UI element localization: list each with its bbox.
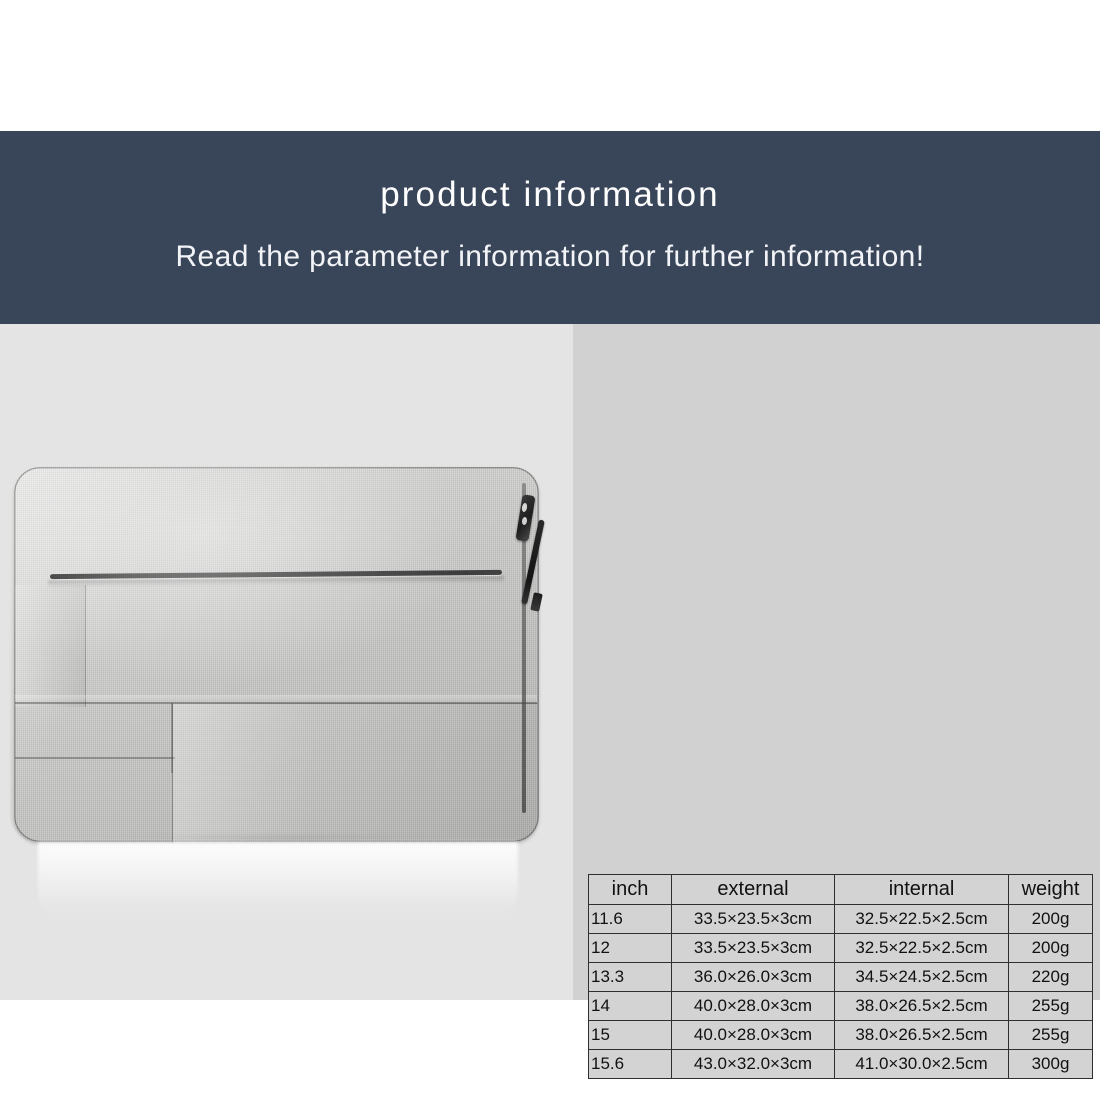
- product-photo-panel: [0, 324, 573, 1000]
- specification-table: inch external internal weight 11.6 33.5×…: [588, 874, 1093, 1079]
- cell-external: 40.0×28.0×3cm: [672, 1021, 835, 1050]
- front-pocket: [172, 703, 538, 843]
- table-header: inch external internal weight: [589, 875, 1093, 905]
- cell-inch: 13.3: [589, 963, 672, 992]
- table-body: 11.6 33.5×23.5×3cm 32.5×22.5×2.5cm 200g …: [589, 905, 1093, 1079]
- cell-weight: 255g: [1009, 1021, 1093, 1050]
- cell-inch: 15: [589, 1021, 672, 1050]
- cell-inch: 15.6: [589, 1050, 672, 1079]
- cell-internal: 38.0×26.5×2.5cm: [835, 992, 1009, 1021]
- cell-internal: 32.5×22.5×2.5cm: [835, 905, 1009, 934]
- lower-left-seam: [15, 757, 175, 759]
- cell-weight: 220g: [1009, 963, 1093, 992]
- table-row: 15.6 43.0×32.0×3cm 41.0×30.0×2.5cm 300g: [589, 1050, 1093, 1079]
- table-header-row: inch external internal weight: [589, 875, 1093, 905]
- cell-weight: 300g: [1009, 1050, 1093, 1079]
- zipper-pull-tip: [530, 592, 543, 611]
- cell-internal: 34.5×24.5×2.5cm: [835, 963, 1009, 992]
- column-header-weight: weight: [1009, 875, 1093, 905]
- cell-inch: 11.6: [589, 905, 672, 934]
- table-row: 15 40.0×28.0×3cm 38.0×26.5×2.5cm 255g: [589, 1021, 1093, 1050]
- cell-external: 43.0×32.0×3cm: [672, 1050, 835, 1079]
- table-row: 12 33.5×23.5×3cm 32.5×22.5×2.5cm 200g: [589, 934, 1093, 963]
- column-header-external: external: [672, 875, 835, 905]
- laptop-sleeve-body: [14, 467, 539, 842]
- cell-weight: 200g: [1009, 905, 1093, 934]
- product-photo: [0, 324, 573, 1000]
- cell-inch: 12: [589, 934, 672, 963]
- cell-weight: 200g: [1009, 934, 1093, 963]
- cell-internal: 32.5×22.5×2.5cm: [835, 934, 1009, 963]
- column-header-inch: inch: [589, 875, 672, 905]
- cell-external: 40.0×28.0×3cm: [672, 992, 835, 1021]
- cell-internal: 38.0×26.5×2.5cm: [835, 1021, 1009, 1050]
- cell-external: 33.5×23.5×3cm: [672, 905, 835, 934]
- cell-internal: 41.0×30.0×2.5cm: [835, 1050, 1009, 1079]
- product-information-page: product information Read the parameter i…: [0, 0, 1100, 1100]
- table-row: 11.6 33.5×23.5×3cm 32.5×22.5×2.5cm 200g: [589, 905, 1093, 934]
- table-row: 14 40.0×28.0×3cm 38.0×26.5×2.5cm 255g: [589, 992, 1093, 1021]
- cell-inch: 14: [589, 992, 672, 1021]
- bag-reflection: [38, 842, 518, 922]
- cell-external: 36.0×26.0×3cm: [672, 963, 835, 992]
- spec-table-container: inch external internal weight 11.6 33.5×…: [588, 874, 1088, 1079]
- left-upper-pocket: [15, 585, 86, 707]
- page-subtitle: Read the parameter information for furth…: [0, 239, 1100, 275]
- page-title: product information: [0, 174, 1100, 216]
- header-banner: product information Read the parameter i…: [0, 131, 1100, 324]
- cell-external: 33.5×23.5×3cm: [672, 934, 835, 963]
- cell-weight: 255g: [1009, 992, 1093, 1021]
- column-header-internal: internal: [835, 875, 1009, 905]
- content-area: inch external internal weight 11.6 33.5×…: [0, 324, 1100, 1000]
- table-row: 13.3 36.0×26.0×3cm 34.5×24.5×2.5cm 220g: [589, 963, 1093, 992]
